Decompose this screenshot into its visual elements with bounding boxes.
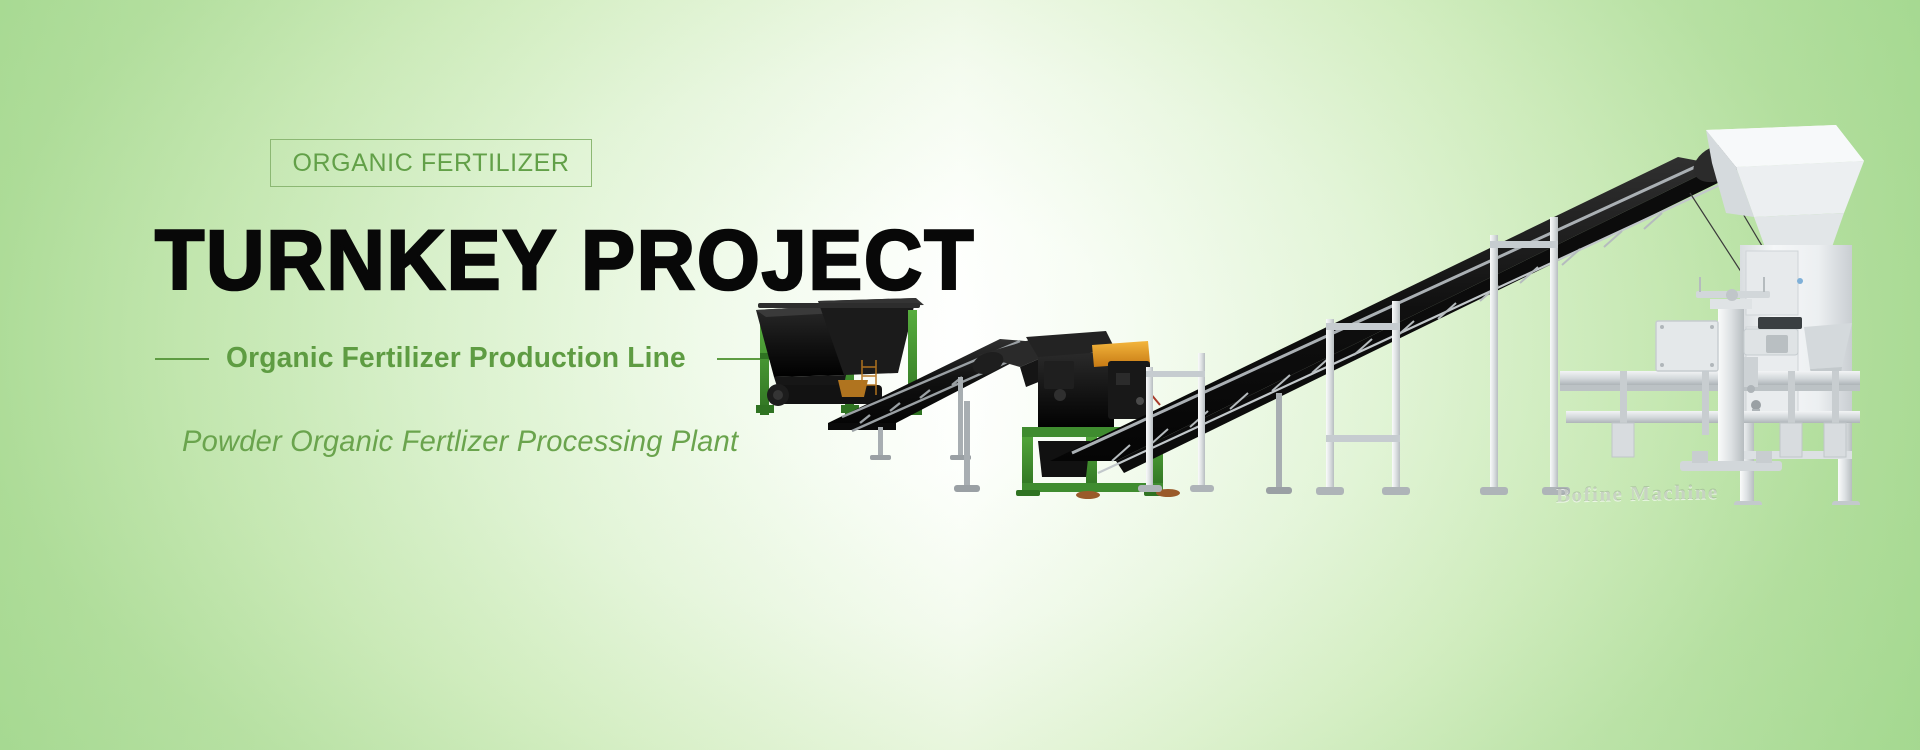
image-watermark: Bofine Machine [1556, 479, 1719, 507]
discharge-conveyor [1560, 371, 1860, 457]
rule-left-decoration [155, 358, 209, 360]
promo-banner: ORGANIC FERTILIZER TURNKEY PROJECT Organ… [0, 0, 1920, 750]
tagline: Powder Organic Fertlizer Processing Plan… [182, 425, 738, 459]
packing-machine-svg [1560, 265, 1920, 495]
subtitle-row: Organic Fertilizer Production Line [155, 342, 771, 375]
packing-machine-illustration [1560, 265, 1920, 495]
subtitle-label: Organic Fertilizer Production Line [226, 342, 686, 375]
category-badge-label: ORGANIC FERTILIZER [292, 149, 569, 178]
category-badge: ORGANIC FERTILIZER [270, 139, 592, 187]
